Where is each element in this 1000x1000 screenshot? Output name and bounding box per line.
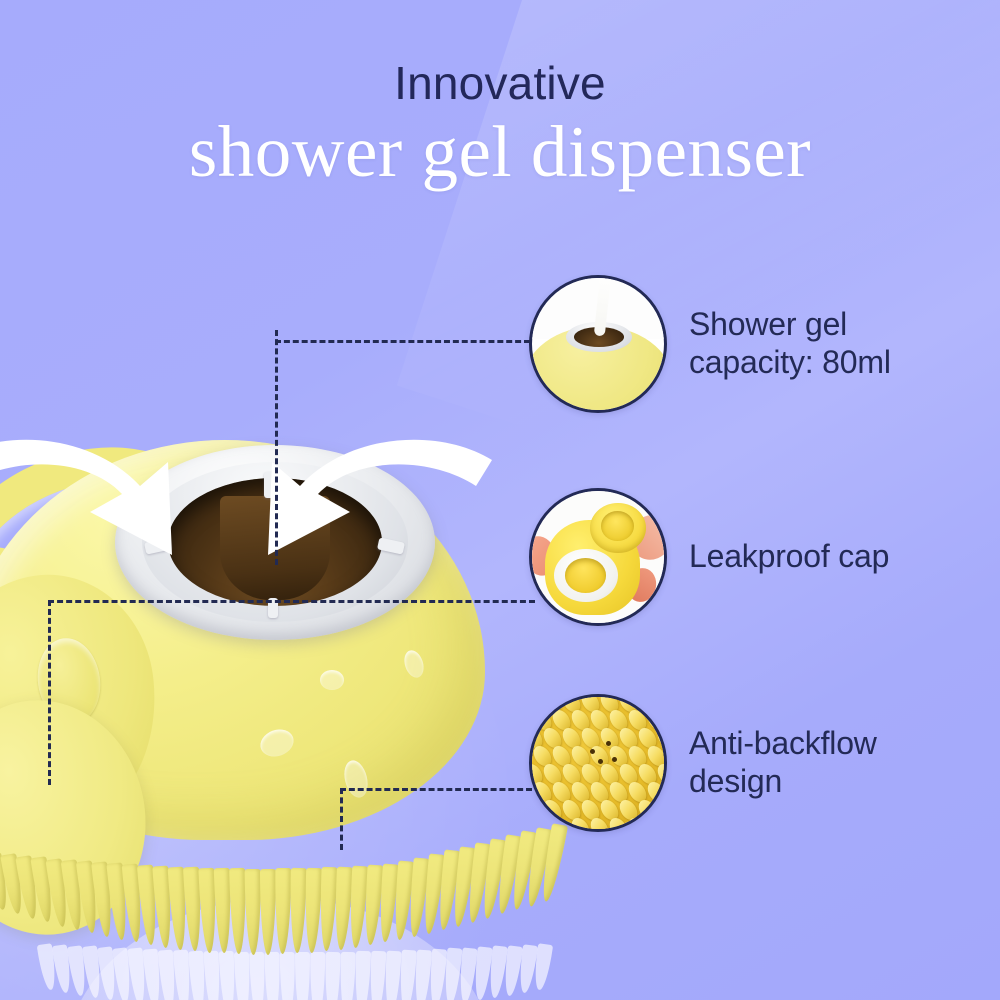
- leader-line-backflow-vertical: [340, 788, 343, 850]
- bristle: [289, 868, 307, 954]
- callout-label-capacity: Shower gel capacity: 80ml: [689, 306, 891, 382]
- bristle: [318, 867, 337, 951]
- callout-leakproof-cap[interactable]: Leakproof cap: [529, 488, 889, 626]
- callout-label-backflow: Anti-backflow design: [689, 725, 877, 801]
- leader-line-cap-horizontal: [48, 600, 535, 603]
- callout-label-cap: Leakproof cap: [689, 538, 889, 576]
- anti-backflow-pore: [598, 759, 603, 764]
- page-title: Innovative shower gel dispenser: [0, 60, 1000, 191]
- callout-image-capacity: [529, 275, 667, 413]
- title-kicker: Innovative: [0, 60, 1000, 106]
- brush-bristles: [0, 772, 560, 972]
- leader-line-capacity-vertical: [275, 330, 278, 565]
- leader-line-capacity-horizontal: [275, 340, 530, 343]
- infographic-canvas: Innovative shower gel dispenser: [0, 0, 1000, 1000]
- leader-line-cap-vertical: [48, 600, 51, 785]
- title-headline: shower gel dispenser: [0, 114, 1000, 191]
- anti-backflow-pore: [590, 749, 595, 754]
- callout-image-cap: [529, 488, 667, 626]
- leader-line-backflow-horizontal: [340, 788, 532, 791]
- bristle: [245, 869, 262, 955]
- bristle: [275, 868, 292, 954]
- cap-flip-lid-inner: [601, 511, 634, 541]
- cap-opening: [565, 558, 606, 592]
- anti-backflow-pore: [612, 757, 617, 762]
- callout-image-backflow: [529, 694, 667, 832]
- callout-shower-gel-capacity[interactable]: Shower gel capacity: 80ml: [529, 275, 891, 413]
- bristle: [304, 868, 322, 953]
- anti-backflow-pore: [606, 741, 611, 746]
- bristle: [260, 869, 276, 955]
- water-droplet: [320, 670, 344, 690]
- callout-anti-backflow[interactable]: Anti-backflow design: [529, 694, 877, 832]
